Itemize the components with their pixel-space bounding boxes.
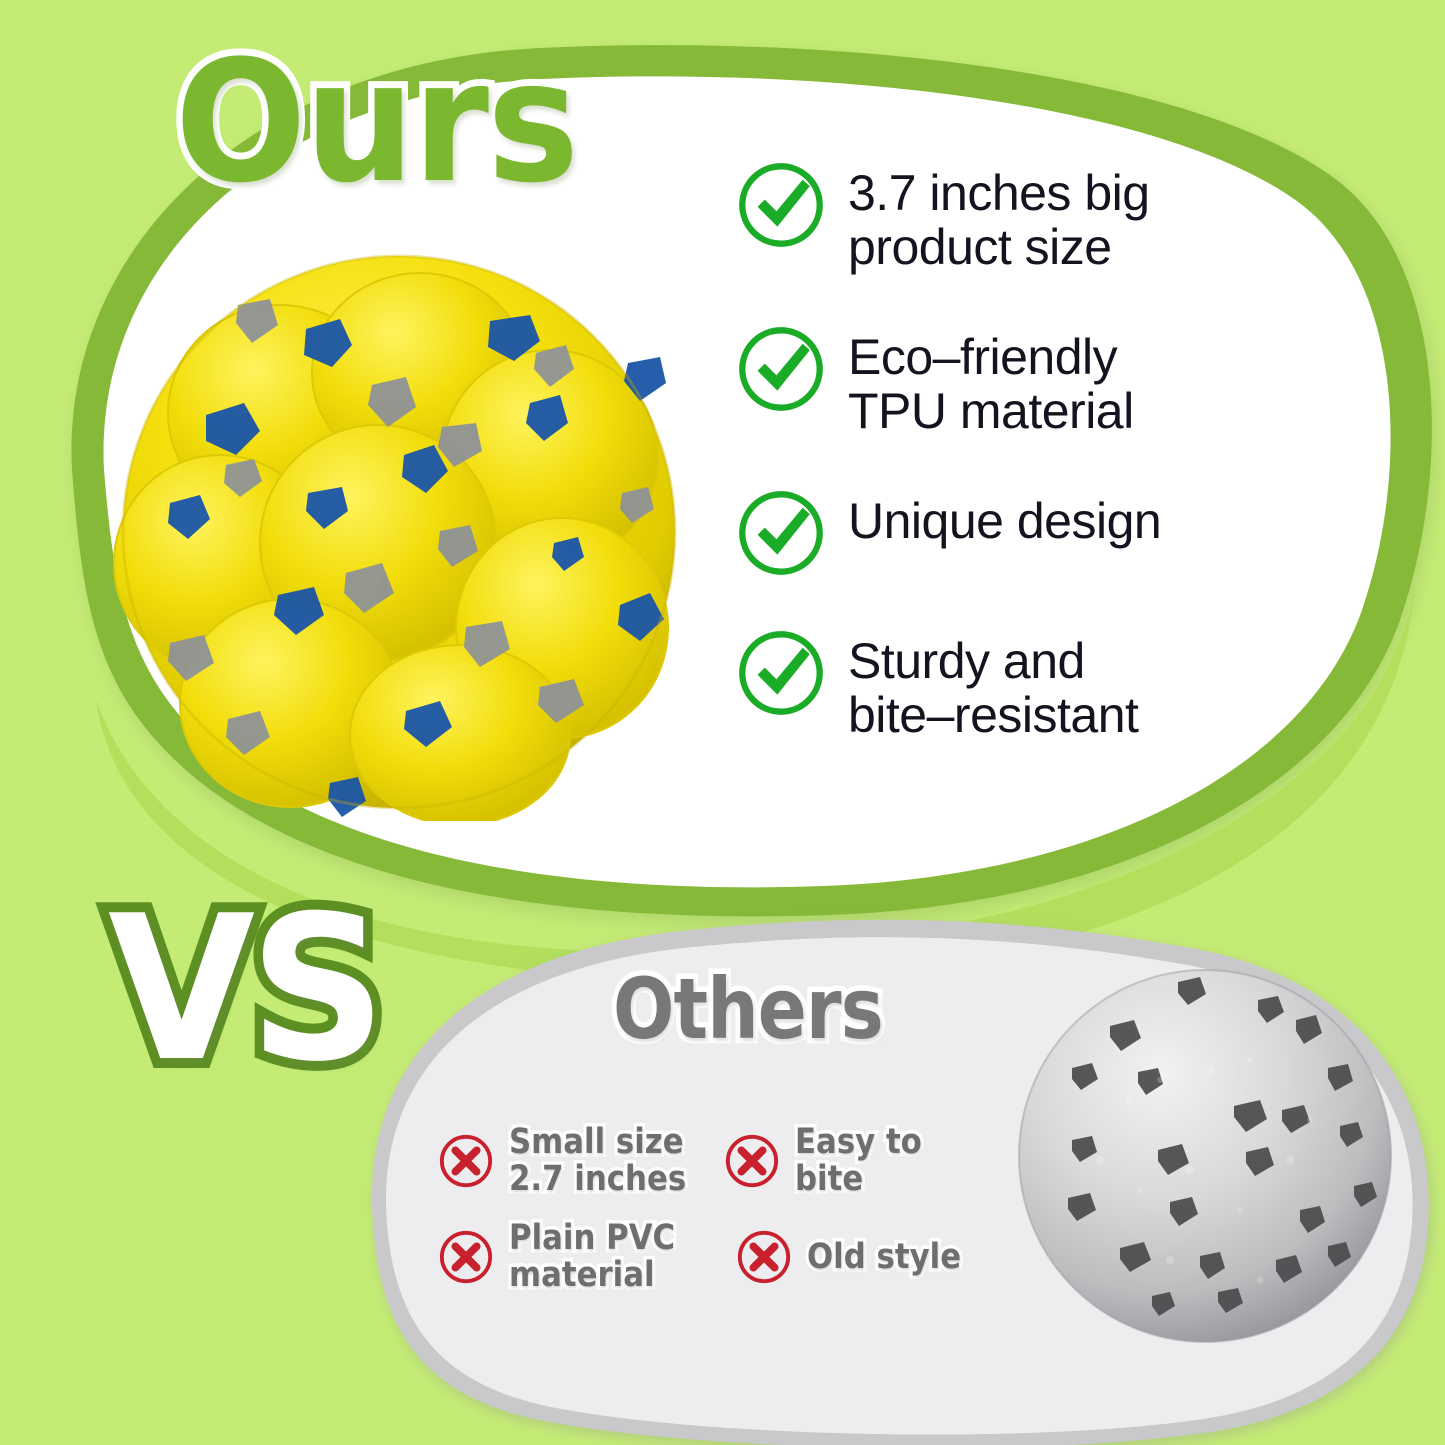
- others-cons-list: Small size 2.7 inches Easy to bite Plain…: [437, 1124, 1017, 1316]
- cons-row: Plain PVC material Old style: [437, 1220, 1017, 1294]
- green-check-circle-icon: [736, 160, 826, 250]
- list-item-label: Easy to bite: [795, 1124, 990, 1198]
- list-item: Unique design: [736, 488, 1206, 578]
- list-item: Plain PVC material: [437, 1220, 735, 1294]
- gray-ball-image: [1010, 960, 1400, 1350]
- list-item-label: Eco–friendly TPU material: [848, 324, 1134, 438]
- list-item-label: Small size 2.7 inches: [509, 1124, 686, 1198]
- page-title-ours: Ours: [175, 38, 577, 206]
- list-item-label: Plain PVC material: [509, 1220, 675, 1294]
- page-title-others: Others: [613, 967, 883, 1051]
- list-item-label: Unique design: [848, 488, 1161, 548]
- red-cross-circle-icon: [723, 1132, 781, 1190]
- infographic-canvas: Ours VS Others 3.7 inches big product si…: [0, 0, 1445, 1445]
- red-cross-circle-icon: [735, 1228, 793, 1286]
- list-item: Old style: [735, 1220, 982, 1294]
- red-cross-circle-icon: [437, 1132, 495, 1190]
- green-check-circle-icon: [736, 488, 826, 578]
- list-item: Eco–friendly TPU material: [736, 324, 1206, 438]
- red-cross-circle-icon: [437, 1228, 495, 1286]
- list-item: Sturdy and bite–resistant: [736, 628, 1206, 742]
- ours-feature-list: 3.7 inches big product size Eco–friendly…: [736, 160, 1206, 742]
- cons-row: Small size 2.7 inches Easy to bite: [437, 1124, 1017, 1198]
- list-item: 3.7 inches big product size: [736, 160, 1206, 274]
- list-item-label: Old style: [807, 1239, 961, 1276]
- list-item: Small size 2.7 inches: [437, 1124, 723, 1198]
- yellow-ball-image: [110, 243, 688, 821]
- green-check-circle-icon: [736, 628, 826, 718]
- versus-badge: VS: [108, 890, 380, 1090]
- list-item-label: 3.7 inches big product size: [848, 160, 1150, 274]
- green-check-circle-icon: [736, 324, 826, 414]
- list-item-label: Sturdy and bite–resistant: [848, 628, 1138, 742]
- list-item: Easy to bite: [723, 1124, 1017, 1198]
